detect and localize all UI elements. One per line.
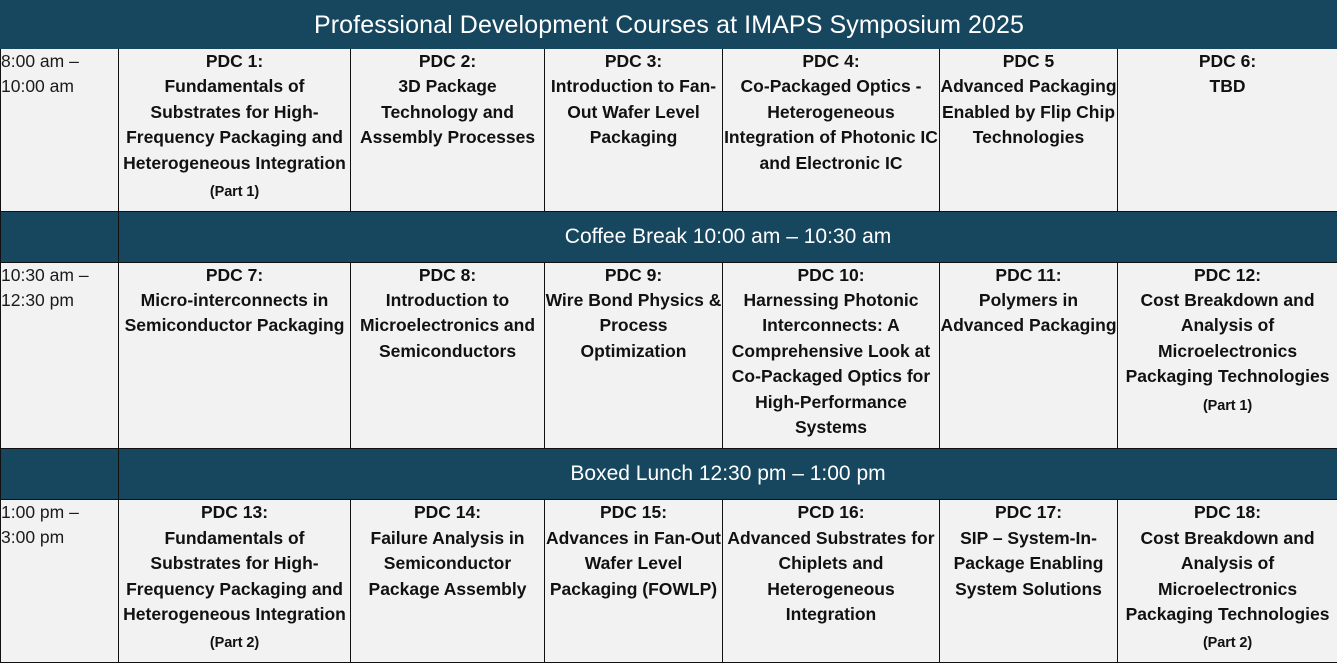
course-cell-pdc-11[interactable]: PDC 11:Polymers in Advanced Packaging (940, 262, 1118, 449)
session-row-midday: 10:30 am – 12:30 pm PDC 7:Micro-intercon… (1, 262, 1337, 449)
course-text: PDC 15:Advances in Fan-Out Wafer Level P… (545, 500, 722, 604)
course-title: Advanced Packaging Enabled by Flip Chip … (940, 76, 1116, 147)
course-text: PDC 3:Introduction to Fan-Out Wafer Leve… (545, 49, 722, 153)
course-code: PCD 16: (723, 500, 939, 525)
course-text: PDC 13:Fundamentals of Substrates for Hi… (119, 500, 350, 656)
course-code: PDC 5 (940, 49, 1117, 74)
course-cell-pdc-1[interactable]: PDC 1:Fundamentals of Substrates for Hig… (119, 49, 351, 212)
course-code: PDC 14: (351, 500, 544, 525)
boxed-lunch-cell: Boxed Lunch 12:30 pm – 1:00 pm (119, 449, 1337, 500)
course-code: PDC 4: (723, 49, 939, 74)
course-code: PDC 6: (1118, 49, 1337, 74)
time-slot-label: 1:00 pm – 3:00 pm (1, 500, 118, 550)
course-code: PDC 10: (723, 263, 939, 288)
course-cell-pdc-5[interactable]: PDC 5Advanced Packaging Enabled by Flip … (940, 49, 1118, 212)
course-code: PDC 1: (119, 49, 350, 74)
course-text: PDC 2:3D Package Technology and Assembly… (351, 49, 544, 153)
course-cell-pdc-14[interactable]: PDC 14:Failure Analysis in Semiconductor… (351, 500, 545, 663)
course-code: PDC 12: (1118, 263, 1337, 288)
course-text: PDC 5Advanced Packaging Enabled by Flip … (940, 49, 1117, 153)
course-code: PDC 7: (119, 263, 350, 288)
course-text: PDC 17:SIP – System-In-Package Enabling … (940, 500, 1117, 604)
course-code: PDC 17: (940, 500, 1117, 525)
course-code: PDC 3: (545, 49, 722, 74)
course-text: PDC 12:Cost Breakdown and Analysis of Mi… (1118, 263, 1337, 419)
course-cell-pdc-3[interactable]: PDC 3:Introduction to Fan-Out Wafer Leve… (545, 49, 723, 212)
course-cell-pdc-4[interactable]: PDC 4:Co-Packaged Optics - Heterogeneous… (723, 49, 940, 212)
course-code: PDC 9: (545, 263, 722, 288)
pdc-schedule-container: Professional Development Courses at IMAP… (0, 0, 1337, 663)
course-text: PDC 11:Polymers in Advanced Packaging (940, 263, 1117, 341)
course-cell-pdc-18[interactable]: PDC 18:Cost Breakdown and Analysis of Mi… (1118, 500, 1337, 663)
course-text: PDC 7:Micro-interconnects in Semiconduct… (119, 263, 350, 341)
break-row-coffee: Coffee Break 10:00 am – 10:30 am (1, 211, 1337, 262)
course-cell-pdc-9[interactable]: PDC 9:Wire Bond Physics & Process Optimi… (545, 262, 723, 449)
course-title: TBD (1210, 76, 1246, 96)
course-part: (Part 2) (210, 635, 259, 651)
course-part: (Part 1) (1203, 398, 1252, 414)
title-row: Professional Development Courses at IMAP… (1, 1, 1337, 49)
course-cell-pdc-15[interactable]: PDC 15:Advances in Fan-Out Wafer Level P… (545, 500, 723, 663)
schedule-body: Professional Development Courses at IMAP… (1, 1, 1337, 663)
course-code: PDC 13: (119, 500, 350, 525)
course-title: Advances in Fan-Out Wafer Level Packagin… (546, 528, 721, 599)
course-part: (Part 1) (210, 184, 259, 200)
course-text: PDC 18:Cost Breakdown and Analysis of Mi… (1118, 500, 1337, 656)
course-code: PDC 8: (351, 263, 544, 288)
course-cell-pdc-6[interactable]: PDC 6:TBD (1118, 49, 1337, 212)
time-slot-cell: 10:30 am – 12:30 pm (1, 262, 119, 449)
break-row-lunch: Boxed Lunch 12:30 pm – 1:00 pm (1, 449, 1337, 500)
course-code: PDC 2: (351, 49, 544, 74)
session-row-morning: 8:00 am – 10:00 am PDC 1:Fundamentals of… (1, 49, 1337, 212)
course-title: Introduction to Fan-Out Wafer Level Pack… (551, 76, 716, 147)
time-slot-label: 8:00 am – 10:00 am (1, 49, 118, 99)
course-cell-pdc-10[interactable]: PDC 10:Harnessing Photonic Interconnects… (723, 262, 940, 449)
coffee-break-cell: Coffee Break 10:00 am – 10:30 am (119, 211, 1337, 262)
course-cell-pcd-16[interactable]: PCD 16:Advanced Substrates for Chiplets … (723, 500, 940, 663)
course-text: PCD 16:Advanced Substrates for Chiplets … (723, 500, 939, 629)
course-text: PDC 10:Harnessing Photonic Interconnects… (723, 263, 939, 443)
course-cell-pdc-8[interactable]: PDC 8:Introduction to Microelectronics a… (351, 262, 545, 449)
course-text: PDC 1:Fundamentals of Substrates for Hig… (119, 49, 350, 205)
course-title: Co-Packaged Optics - Heterogeneous Integ… (724, 76, 938, 172)
course-code: PDC 18: (1118, 500, 1337, 525)
course-text: PDC 4:Co-Packaged Optics - Heterogeneous… (723, 49, 939, 178)
course-title: Fundamentals of Substrates for High-Freq… (123, 76, 346, 172)
course-part: (Part 2) (1203, 635, 1252, 651)
time-slot-cell: 8:00 am – 10:00 am (1, 49, 119, 212)
pdc-schedule-table: Professional Development Courses at IMAP… (0, 0, 1337, 663)
course-title: Introduction to Microelectronics and Sem… (360, 290, 535, 361)
course-cell-pdc-13[interactable]: PDC 13:Fundamentals of Substrates for Hi… (119, 500, 351, 663)
page-title-cell: Professional Development Courses at IMAP… (1, 1, 1337, 49)
coffee-break-label: Coffee Break 10:00 am – 10:30 am (119, 224, 1337, 250)
course-title: Cost Breakdown and Analysis of Microelec… (1126, 290, 1330, 386)
time-slot-cell: 1:00 pm – 3:00 pm (1, 500, 119, 663)
course-code: PDC 11: (940, 263, 1117, 288)
course-cell-pdc-2[interactable]: PDC 2:3D Package Technology and Assembly… (351, 49, 545, 212)
course-text: PDC 6:TBD (1118, 49, 1337, 102)
course-title: Harnessing Photonic Interconnects: A Com… (732, 290, 930, 437)
course-text: PDC 14:Failure Analysis in Semiconductor… (351, 500, 544, 604)
course-title: Failure Analysis in Semiconductor Packag… (369, 528, 527, 599)
break-spacer-cell (1, 449, 119, 500)
boxed-lunch-label: Boxed Lunch 12:30 pm – 1:00 pm (119, 461, 1337, 487)
time-slot-label: 10:30 am – 12:30 pm (1, 263, 118, 313)
course-title: Advanced Substrates for Chiplets and Het… (727, 528, 934, 624)
break-spacer-cell (1, 211, 119, 262)
course-title: SIP – System-In-Package Enabling System … (954, 528, 1104, 599)
course-text: PDC 9:Wire Bond Physics & Process Optimi… (545, 263, 722, 367)
course-text: PDC 8:Introduction to Microelectronics a… (351, 263, 544, 367)
course-title: 3D Package Technology and Assembly Proce… (360, 76, 535, 147)
course-code: PDC 15: (545, 500, 722, 525)
course-title: Polymers in Advanced Packaging (940, 290, 1116, 335)
course-cell-pdc-7[interactable]: PDC 7:Micro-interconnects in Semiconduct… (119, 262, 351, 449)
session-row-afternoon: 1:00 pm – 3:00 pm PDC 13:Fundamentals of… (1, 500, 1337, 663)
page-title: Professional Development Courses at IMAP… (1, 10, 1337, 40)
course-title: Wire Bond Physics & Process Optimization (546, 290, 722, 361)
course-cell-pdc-17[interactable]: PDC 17:SIP – System-In-Package Enabling … (940, 500, 1118, 663)
course-title: Micro-interconnects in Semiconductor Pac… (125, 290, 345, 335)
course-title: Cost Breakdown and Analysis of Microelec… (1126, 528, 1330, 624)
course-title: Fundamentals of Substrates for High-Freq… (123, 528, 346, 624)
course-cell-pdc-12[interactable]: PDC 12:Cost Breakdown and Analysis of Mi… (1118, 262, 1337, 449)
